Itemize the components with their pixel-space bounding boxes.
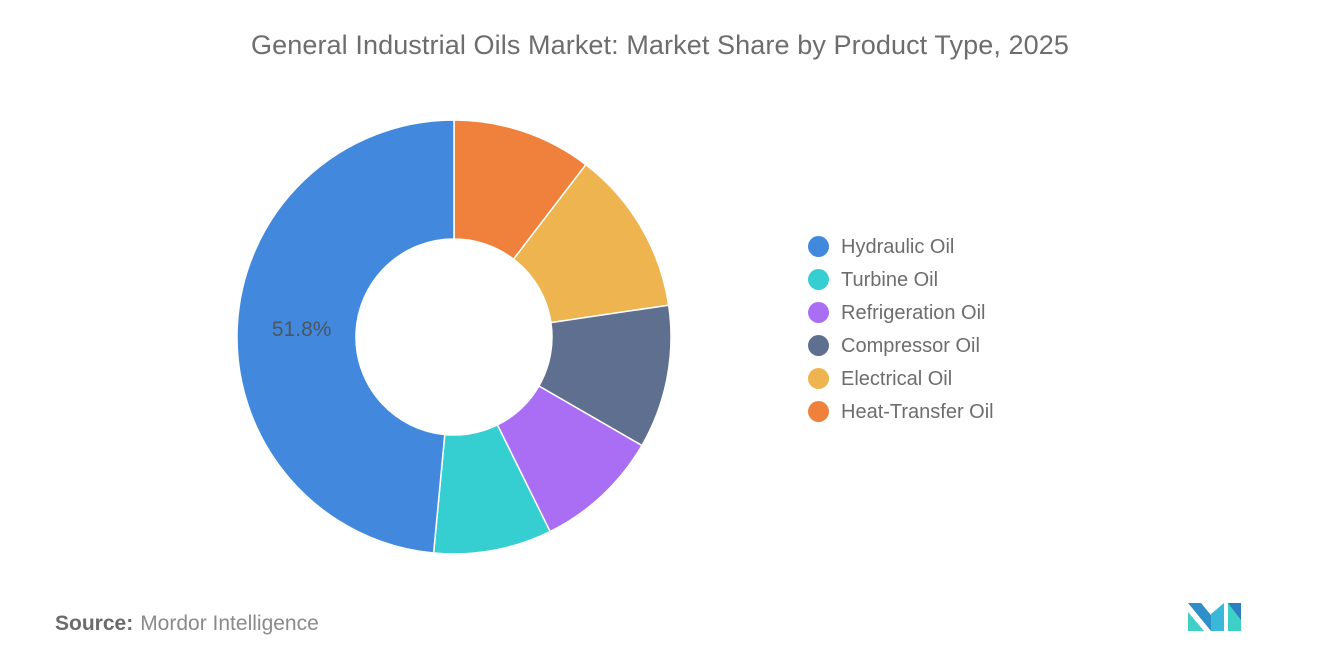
donut-slice[interactable] — [237, 120, 454, 553]
legend-item-label: Turbine Oil — [841, 270, 938, 290]
legend-swatch-icon — [808, 302, 829, 323]
legend-swatch-icon — [808, 401, 829, 422]
legend-item[interactable]: Electrical Oil — [808, 362, 1138, 395]
legend-swatch-icon — [808, 335, 829, 356]
legend-item-label: Heat-Transfer Oil — [841, 402, 994, 422]
chart-legend: Hydraulic OilTurbine OilRefrigeration Oi… — [808, 230, 1138, 428]
legend-item-label: Electrical Oil — [841, 369, 952, 389]
legend-swatch-icon — [808, 236, 829, 257]
legend-item[interactable]: Hydraulic Oil — [808, 230, 1138, 263]
legend-item[interactable]: Compressor Oil — [808, 329, 1138, 362]
mordor-intelligence-logo-icon — [1184, 598, 1254, 636]
legend-item-label: Compressor Oil — [841, 336, 980, 356]
legend-swatch-icon — [808, 368, 829, 389]
legend-item-label: Hydraulic Oil — [841, 237, 954, 257]
source-note: Source:Mordor Intelligence — [55, 612, 319, 636]
page-title: General Industrial Oils Market: Market S… — [0, 30, 1320, 61]
legend-item[interactable]: Turbine Oil — [808, 263, 1138, 296]
legend-item[interactable]: Heat-Transfer Oil — [808, 395, 1138, 428]
source-value: Mordor Intelligence — [140, 612, 319, 635]
donut-chart: 51.8% — [236, 119, 672, 555]
legend-item[interactable]: Refrigeration Oil — [808, 296, 1138, 329]
donut-slice-label: 51.8% — [272, 318, 332, 342]
legend-item-label: Refrigeration Oil — [841, 303, 986, 323]
legend-swatch-icon — [808, 269, 829, 290]
chart-container: General Industrial Oils Market: Market S… — [0, 0, 1320, 665]
source-label: Source: — [55, 612, 133, 635]
